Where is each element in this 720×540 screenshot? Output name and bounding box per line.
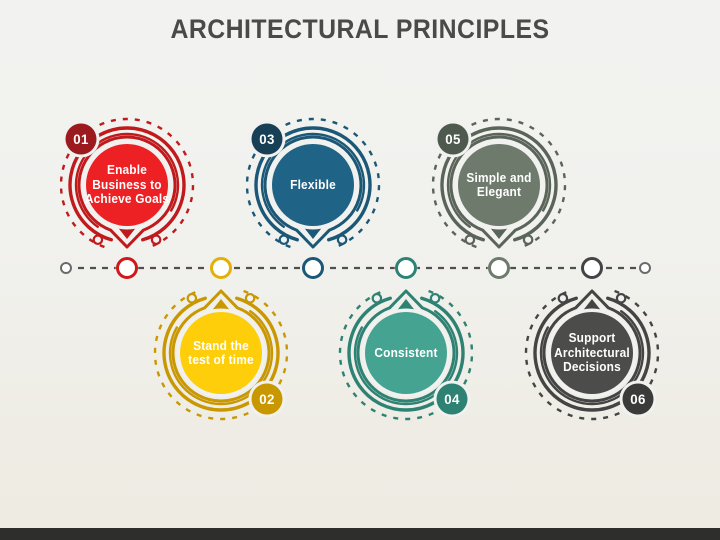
principle-node-01[interactable] bbox=[61, 119, 193, 247]
principle-disc bbox=[551, 312, 633, 394]
principle-node-06[interactable] bbox=[526, 291, 658, 419]
timeline-end-cap bbox=[638, 261, 652, 275]
timeline-node-02 bbox=[210, 257, 233, 280]
slide-canvas: ARCHITECTURAL PRINCIPLES EnableBusiness … bbox=[0, 0, 720, 540]
principle-disc bbox=[365, 312, 447, 394]
badge-circle-01[interactable] bbox=[66, 124, 97, 155]
principle-disc bbox=[272, 144, 354, 226]
infographic-diagram bbox=[0, 0, 720, 540]
timeline-node-05 bbox=[488, 257, 511, 280]
badge-circle-06[interactable] bbox=[623, 384, 654, 415]
principle-node-05[interactable] bbox=[433, 119, 565, 247]
principle-node-03[interactable] bbox=[247, 119, 379, 247]
principle-disc bbox=[86, 144, 168, 226]
badge-circle-04[interactable] bbox=[437, 384, 468, 415]
badge-circle-02[interactable] bbox=[252, 384, 283, 415]
badge-circle-03[interactable] bbox=[252, 124, 283, 155]
timeline-node-01 bbox=[116, 257, 139, 280]
badge-circle-05[interactable] bbox=[438, 124, 469, 155]
timeline-node-03 bbox=[302, 257, 325, 280]
bottom-bar bbox=[0, 528, 720, 540]
principle-node-04[interactable] bbox=[340, 291, 472, 419]
principle-node-02[interactable] bbox=[155, 291, 287, 419]
principle-disc bbox=[180, 312, 262, 394]
timeline-node-06 bbox=[581, 257, 604, 280]
principle-disc bbox=[458, 144, 540, 226]
timeline-start-cap bbox=[59, 261, 73, 275]
timeline bbox=[59, 257, 652, 280]
timeline-node-04 bbox=[395, 257, 418, 280]
